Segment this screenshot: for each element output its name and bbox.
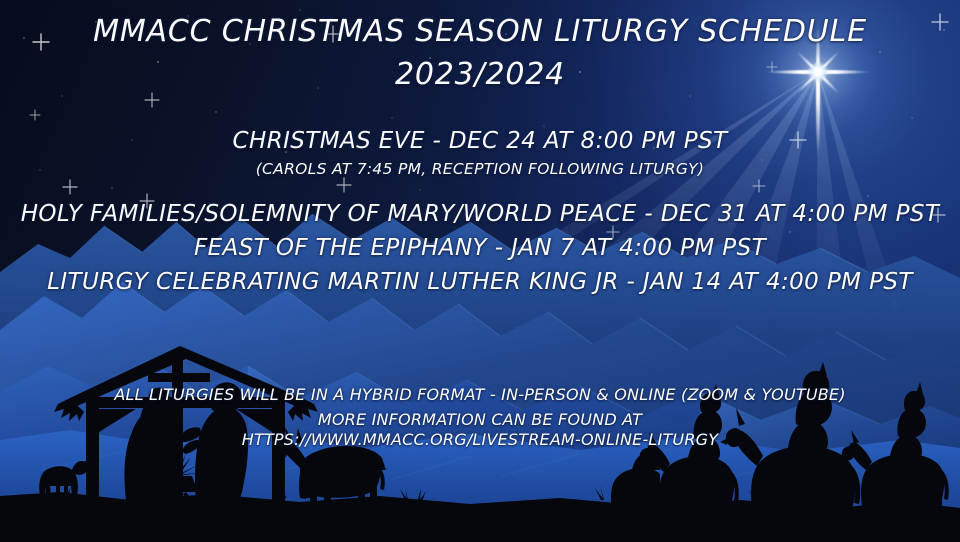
footer-format-line: ALL LITURGIES WILL BE IN A HYBRID FORMAT… xyxy=(0,385,960,404)
event-christmas-eve-note: (CAROLS AT 7:45 PM, RECEPTION FOLLOWING … xyxy=(0,160,960,178)
event-epiphany: FEAST OF THE EPIPHANY - JAN 7 AT 4:00 PM… xyxy=(0,235,960,261)
poster-title-line-1: MMACC CHRISTMAS SEASON LITURGY SCHEDULE xyxy=(0,14,960,49)
poster-title-line-2: 2023/2024 xyxy=(0,57,960,92)
christmas-liturgy-poster: MMACC CHRISTMAS SEASON LITURGY SCHEDULE … xyxy=(0,0,960,542)
event-mlk-liturgy: LITURGY CELEBRATING MARTIN LUTHER KING J… xyxy=(0,269,960,295)
poster-text: MMACC CHRISTMAS SEASON LITURGY SCHEDULE … xyxy=(0,0,960,542)
event-christmas-eve: CHRISTMAS EVE - DEC 24 AT 8:00 PM PST xyxy=(0,128,960,154)
footer-url[interactable]: HTTPS://WWW.MMACC.ORG/LIVESTREAM-ONLINE-… xyxy=(0,430,960,449)
footer-info-line: MORE INFORMATION CAN BE FOUND AT xyxy=(0,410,960,429)
event-holy-families: HOLY FAMILIES/SOLEMNITY OF MARY/WORLD PE… xyxy=(0,201,960,227)
